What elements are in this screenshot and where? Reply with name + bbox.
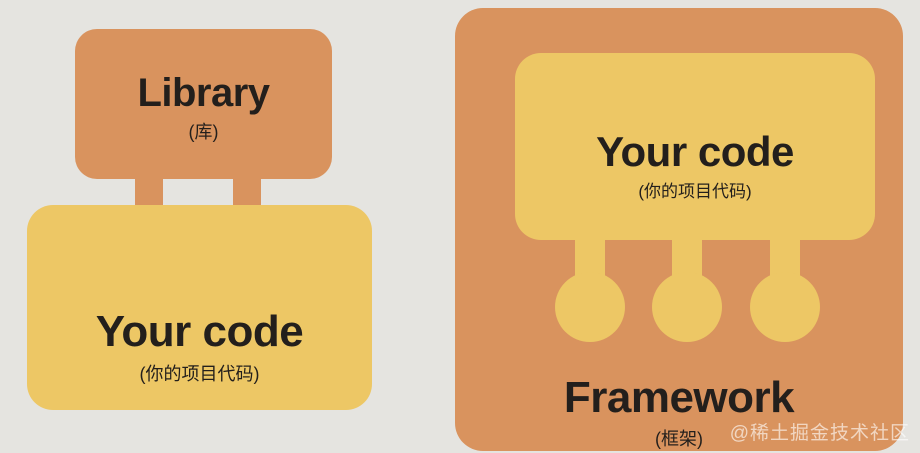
your-code-sublabel-left: (你的项目代码) [27,365,372,383]
diagram-canvas: Library (库) Your code (你的项目代码) Your code… [0,0,920,453]
your-code-label-right: Your code [515,131,875,173]
your-code-sublabel-right: (你的项目代码) [515,183,875,200]
framework-connector-peg-3 [750,236,820,346]
framework-connector-peg-2 [652,236,722,346]
library-block: Library (库) [75,29,332,179]
peg-bulb [750,272,820,342]
peg-bulb [555,272,625,342]
your-code-block-right: Your code (你的项目代码) [515,53,875,240]
peg-bulb [652,272,722,342]
library-label: Library [75,73,332,113]
your-code-label-left: Your code [27,310,372,354]
framework-label: Framework [455,376,903,420]
framework-connector-peg-1 [555,236,625,346]
library-sublabel: (库) [75,123,332,141]
your-code-block-left: Your code (你的项目代码) [27,205,372,410]
framework-sublabel: (框架) [455,430,903,448]
library-diagram: Library (库) Your code (你的项目代码) [0,0,420,453]
framework-diagram: Your code (你的项目代码) Framework (框架) [440,0,920,453]
framework-block: Your code (你的项目代码) Framework (框架) [455,8,903,451]
